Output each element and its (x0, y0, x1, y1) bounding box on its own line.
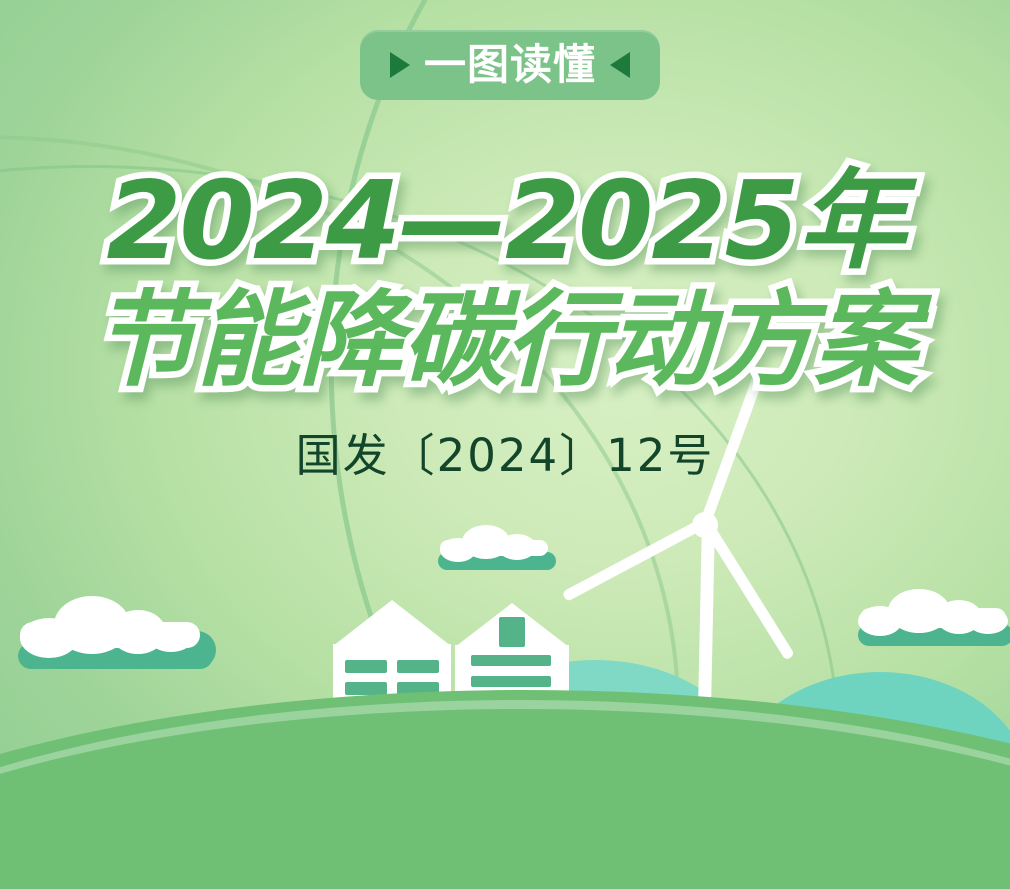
cloud-left (18, 594, 213, 669)
document-number: 国发〔2024〕12号 (0, 419, 1010, 484)
poster-canvas: 一图读懂 2024—2025年 节能降碳行动方案 国发〔2024〕12号 (0, 0, 1010, 889)
turbine-blade-3 (701, 519, 795, 661)
title-main-line: 节能降碳行动方案 (0, 284, 1010, 396)
cloud-mid (438, 524, 556, 570)
title-year-line: 2024—2025年 (0, 165, 1010, 278)
foreground-hill (0, 690, 1010, 889)
cloud-right (858, 588, 1010, 646)
title-block: 2024—2025年 节能降碳行动方案 国发〔2024〕12号 (0, 165, 1010, 484)
